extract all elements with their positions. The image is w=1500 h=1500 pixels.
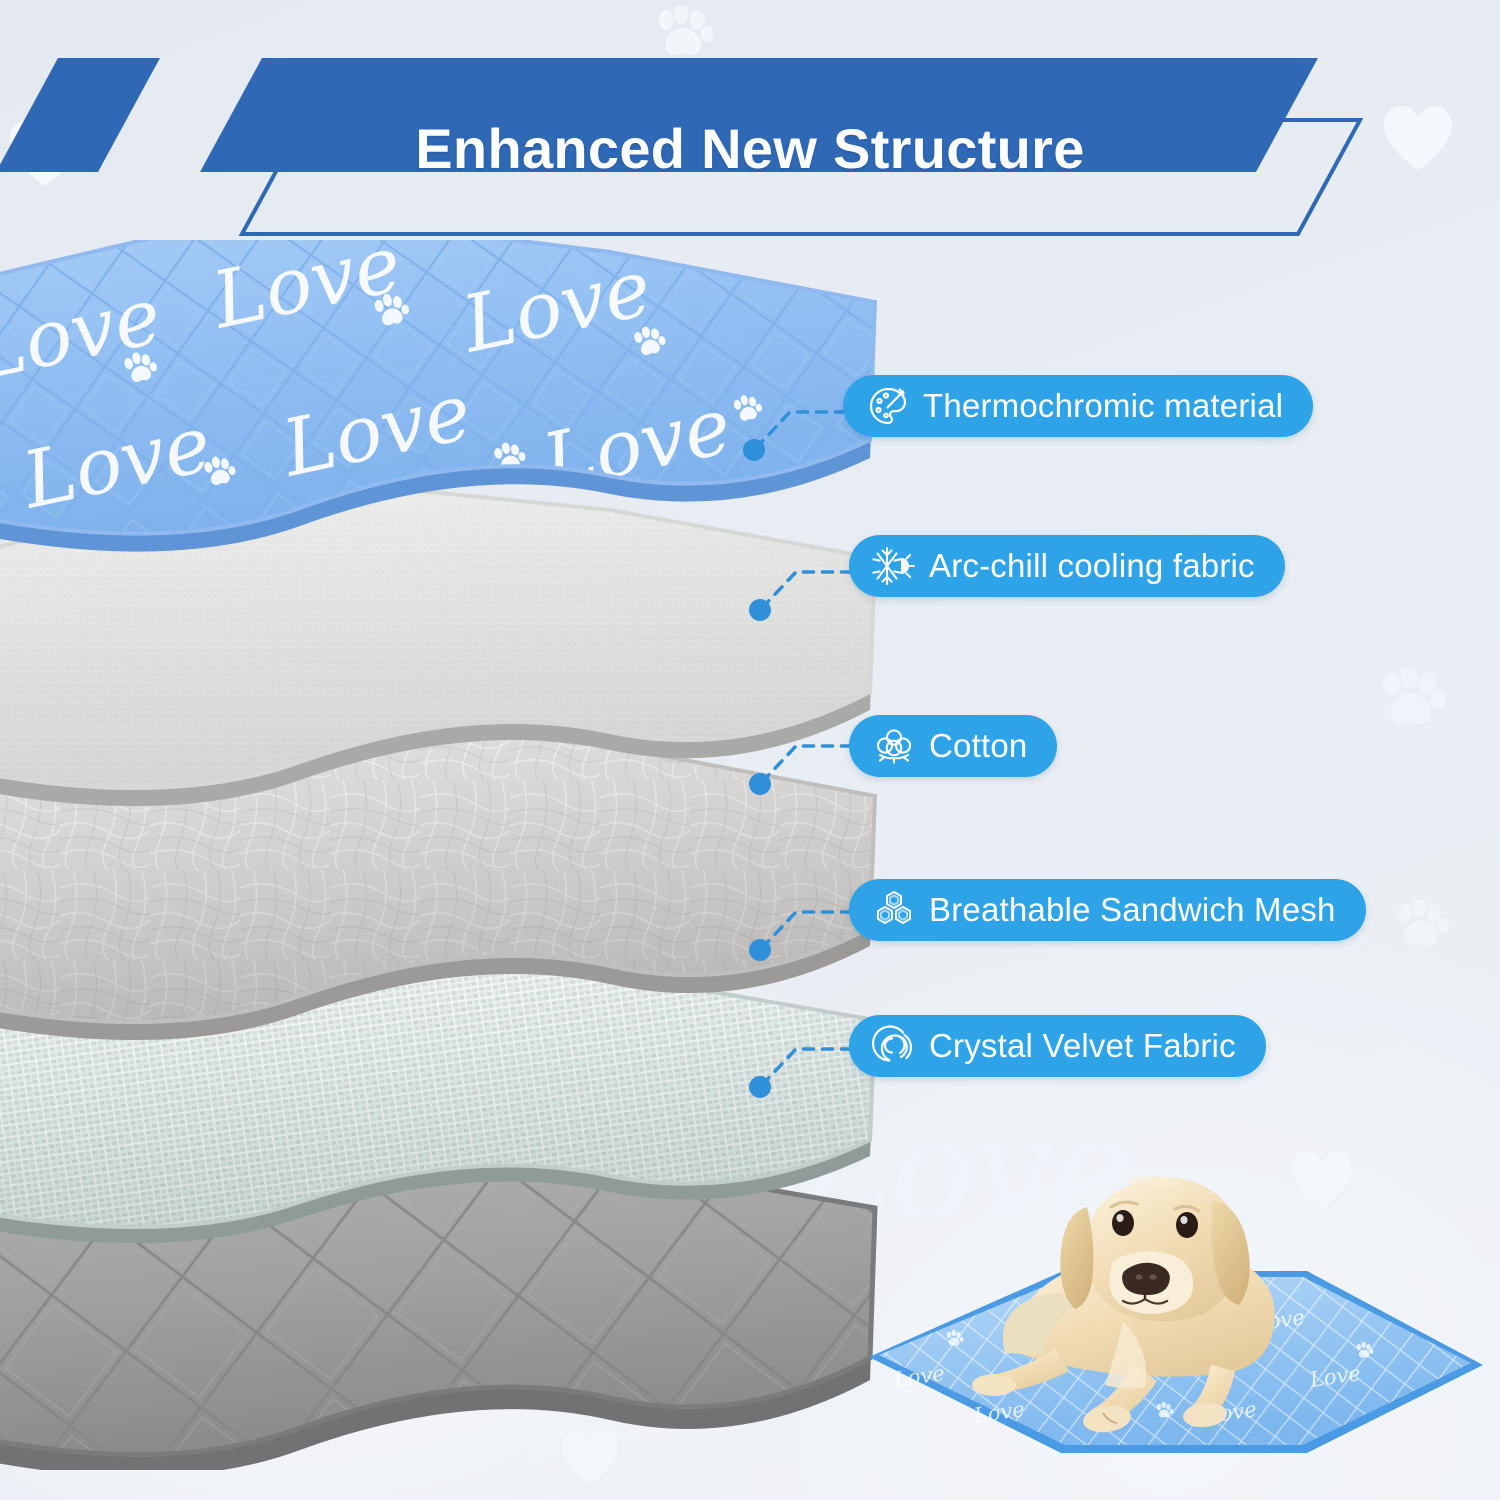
snowflake-sun-icon	[871, 543, 917, 589]
feature-pill-label: Thermochromic material	[923, 387, 1283, 425]
feature-pill-sandwich-mesh[interactable]: Breathable Sandwich Mesh	[849, 879, 1366, 941]
cotton-boll-icon	[871, 723, 917, 769]
feature-pill-cotton[interactable]: Cotton	[849, 715, 1057, 777]
feature-pill-label: Cotton	[929, 727, 1027, 765]
feature-pill-arc-chill[interactable]: Arc-chill cooling fabric	[849, 535, 1285, 597]
velvet-swirl-icon	[871, 1023, 917, 1069]
feature-pill-crystal-velvet[interactable]: Crystal Velvet Fabric	[849, 1015, 1266, 1077]
infographic-canvas: Love Love Enhanced New Structure	[0, 0, 1500, 1500]
feature-pill-label: Crystal Velvet Fabric	[929, 1027, 1236, 1065]
paw-print-icon	[1375, 668, 1447, 734]
feature-pill-thermochromic[interactable]: Thermochromic material	[843, 375, 1313, 437]
honeycomb-icon	[871, 887, 917, 933]
palette-icon	[865, 383, 911, 429]
page-title: Enhanced New Structure	[0, 116, 1500, 181]
feature-pill-label: Breathable Sandwich Mesh	[929, 891, 1336, 929]
page-title-banner: Enhanced New Structure	[0, 40, 1500, 240]
product-photo: Love Love Love Love Love	[855, 1135, 1500, 1500]
fabric-layer-stack: Love Love Love Love Love Love	[0, 240, 920, 1470]
feature-pill-label: Arc-chill cooling fabric	[929, 547, 1255, 585]
paw-print-icon	[1392, 900, 1450, 954]
